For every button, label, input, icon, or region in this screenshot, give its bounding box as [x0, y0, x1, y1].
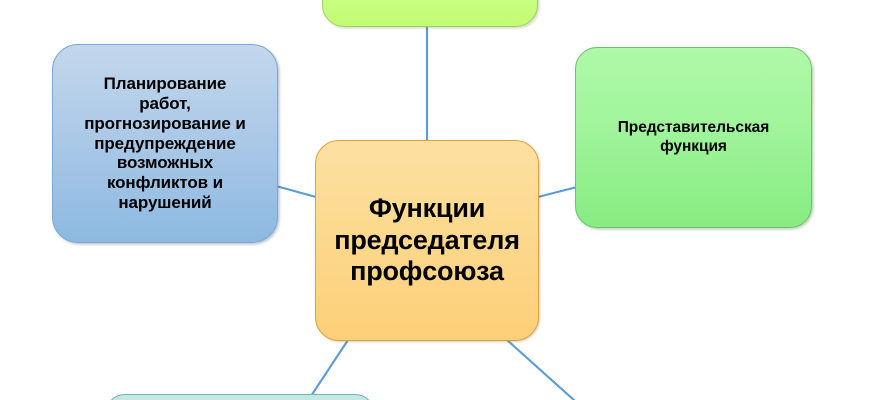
node-right-representative-function[interactable]: Представительская функция [575, 47, 812, 228]
connector-center-to-bottom-left [311, 340, 348, 396]
node-left-planning[interactable]: Планирование работ, прогнозирование и пр… [52, 44, 278, 243]
connector-center-to-left [276, 186, 316, 197]
diagram-canvas: Планирование работ, прогнозирование и пр… [0, 0, 870, 400]
connector-center-to-bottom-right [507, 340, 575, 400]
node-bottom-left[interactable] [105, 394, 375, 400]
connector-center-to-right [538, 187, 577, 197]
node-top[interactable] [322, 0, 538, 27]
node-center-title[interactable]: Функции председателя профсоюза [315, 140, 539, 341]
